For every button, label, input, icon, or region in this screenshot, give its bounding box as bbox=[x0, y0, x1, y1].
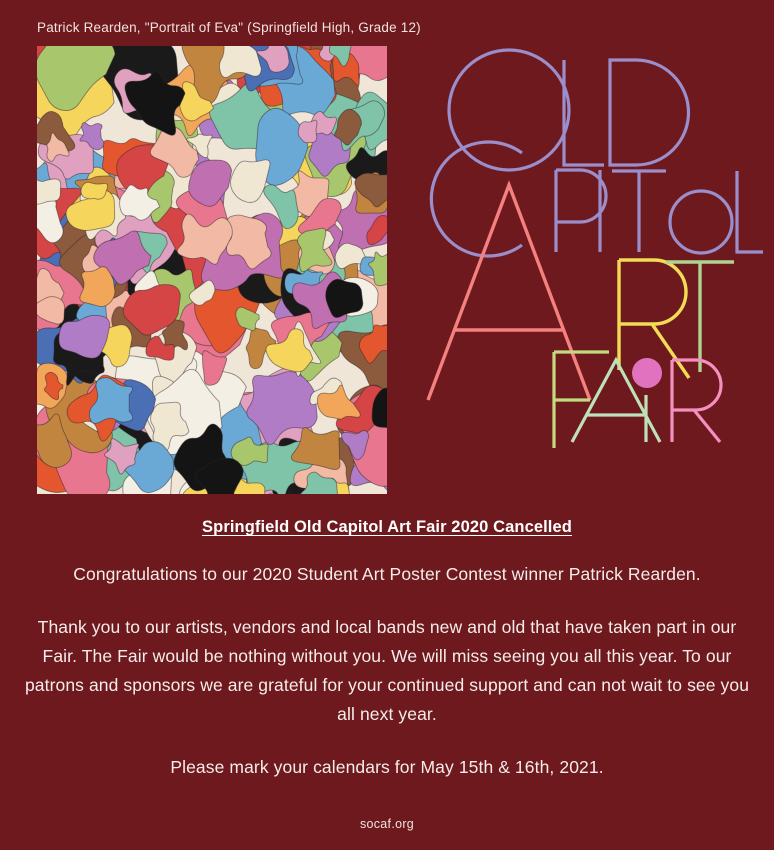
page-title: Springfield Old Capitol Art Fair 2020 Ca… bbox=[0, 518, 774, 537]
logo-letter-L-capitol bbox=[737, 171, 763, 252]
paragraph-thank-you: Thank you to our artists, vendors and lo… bbox=[24, 613, 750, 729]
logo-letter-D bbox=[610, 60, 689, 165]
artwork-blob bbox=[81, 182, 108, 199]
logo-letter-O bbox=[449, 50, 569, 170]
website-link[interactable]: socaf.org bbox=[0, 817, 774, 831]
announcement-body: Congratulations to our 2020 Student Art … bbox=[24, 560, 750, 782]
artwork-shapes bbox=[37, 46, 387, 494]
artwork-canvas bbox=[37, 46, 387, 494]
paragraph-congratulations: Congratulations to our 2020 Student Art … bbox=[24, 560, 750, 589]
logo-letter-R-fair bbox=[672, 360, 721, 442]
student-artwork-image bbox=[37, 46, 387, 494]
poster-canvas: Patrick Rearden, "Portrait of Eva" (Spri… bbox=[0, 0, 774, 850]
logo-letter-O-capitol bbox=[670, 191, 732, 253]
artwork-blob bbox=[80, 267, 115, 307]
logo-letter-T-capitol bbox=[612, 171, 666, 252]
old-capitol-art-fair-logo bbox=[404, 30, 764, 450]
paragraph-save-the-date: Please mark your calendars for May 15th … bbox=[24, 753, 750, 782]
logo-letter-F bbox=[554, 352, 609, 448]
logo-letter-i-dot bbox=[632, 358, 662, 388]
artwork-caption: Patrick Rearden, "Portrait of Eva" (Spri… bbox=[37, 20, 421, 35]
artwork-blob bbox=[37, 179, 61, 205]
logo-letter-A bbox=[428, 185, 590, 400]
artwork-blob-accent bbox=[326, 279, 363, 317]
